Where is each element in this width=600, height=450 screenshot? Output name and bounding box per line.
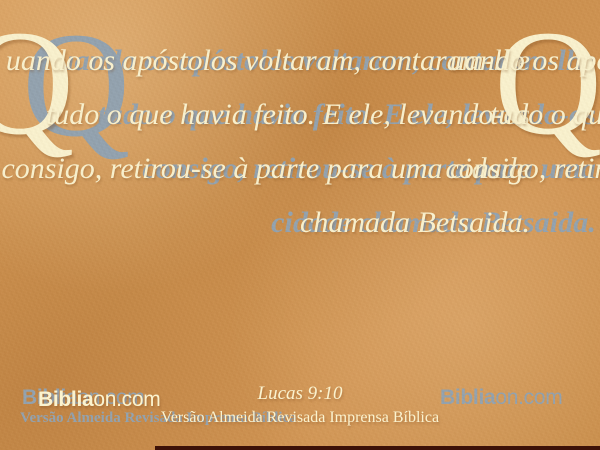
bottom-accent-bar: [155, 446, 600, 450]
bible-version: Versão Almeida Revisada Imprensa Bíblica: [0, 406, 600, 430]
reference-block: Lucas 9:10 Versão Almeida Revisada Impre…: [0, 382, 600, 430]
verse-image-canvas: Q uando os apóstolos voltaram, contaram-…: [0, 0, 600, 450]
verse-reference: Lucas 9:10: [0, 382, 600, 406]
verse-text-overflow: uando os apóstolos voltaram, contaram-lh…: [434, 34, 600, 250]
